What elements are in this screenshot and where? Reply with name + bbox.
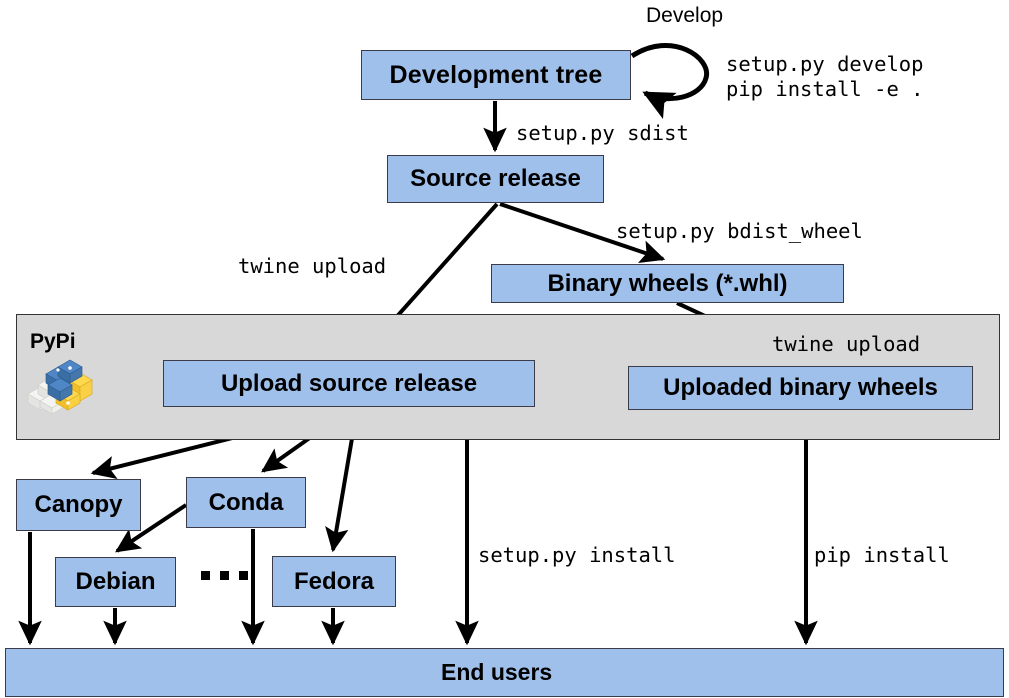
ellipsis-more-distros [201, 571, 248, 580]
label-develop: Develop [646, 4, 723, 28]
dot-3 [239, 571, 248, 580]
label-setup-py-bdist-wheel: setup.py bdist_wheel [616, 219, 863, 244]
node-conda[interactable]: Conda [186, 477, 306, 528]
node-end-users[interactable]: End users [5, 648, 1004, 697]
node-uploaded-binary-wheels[interactable]: Uploaded binary wheels [628, 366, 973, 410]
node-fedora[interactable]: Fedora [272, 556, 396, 607]
pypi-python-blocks-icon [24, 356, 94, 414]
pypi-group-label: PyPi [30, 330, 76, 354]
label-setup-py-sdist: setup.py sdist [516, 121, 689, 146]
node-binary-wheels[interactable]: Binary wheels (*.whl) [491, 264, 844, 303]
dot-1 [201, 571, 210, 580]
edge-develop-self-loop [632, 45, 707, 98]
label-develop-commands: setup.py develop pip install -e . [726, 52, 923, 102]
label-twine-upload-source: twine upload [238, 254, 386, 279]
dot-2 [220, 571, 229, 580]
node-canopy[interactable]: Canopy [16, 479, 141, 531]
label-pip-install: pip install [814, 543, 950, 568]
node-development-tree[interactable]: Development tree [361, 50, 631, 100]
diagram-canvas: PyPi [0, 0, 1009, 698]
label-twine-upload-wheels: twine upload [772, 332, 920, 357]
label-setup-py-install: setup.py install [478, 543, 675, 568]
node-debian[interactable]: Debian [55, 557, 176, 607]
node-upload-source-release[interactable]: Upload source release [163, 360, 535, 407]
node-source-release[interactable]: Source release [387, 155, 604, 203]
